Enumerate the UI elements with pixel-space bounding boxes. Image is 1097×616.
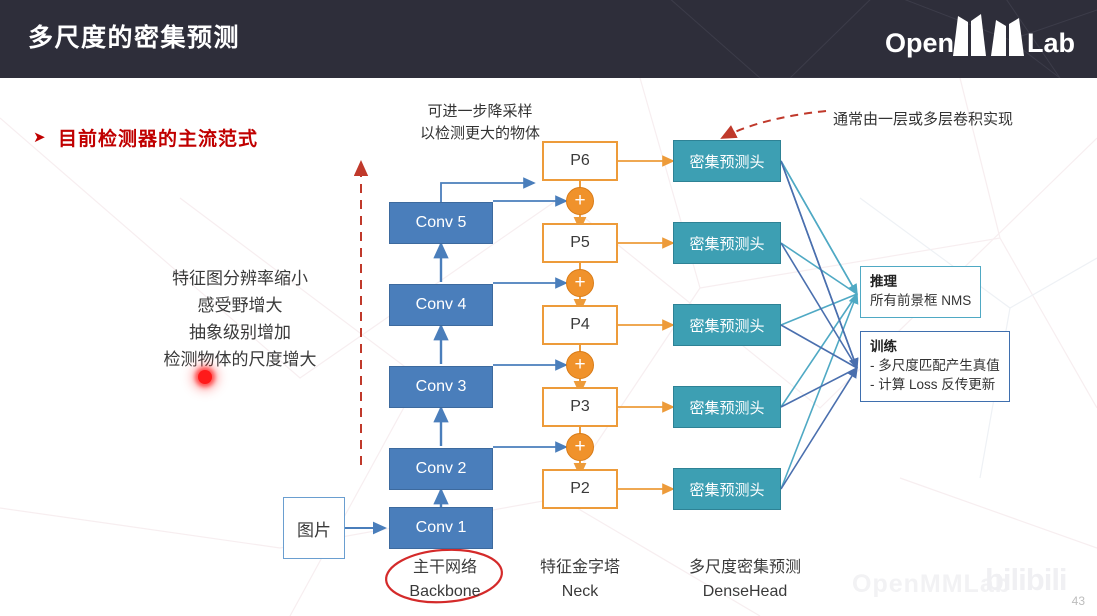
section-heading: 目前检测器的主流范式 <box>58 124 258 151</box>
slide-root: 多尺度的密集预测 Open Lab <box>0 0 1097 616</box>
bullet-arrow-icon: ➤ <box>33 128 46 146</box>
neck-p5: P5 <box>542 223 618 263</box>
training-line: - 多尺度匹配产生真值 <box>870 356 1000 375</box>
note-line: 检测物体的尺度增大 <box>120 346 360 373</box>
note-line: 以检测更大的物体 <box>405 123 555 145</box>
stage-label-en: Backbone <box>370 580 520 604</box>
stage-label-cn: 多尺度密集预测 <box>650 556 840 580</box>
input-image-box: 图片 <box>283 497 345 559</box>
bilibili-watermark: bilibili <box>985 562 1067 598</box>
training-box: 训练 - 多尺度匹配产生真值 - 计算 Loss 反传更新 <box>860 331 1010 402</box>
page-title: 多尺度的密集预测 <box>28 18 240 54</box>
stage-label-cn: 特征金字塔 <box>505 556 655 580</box>
stage-label-neck: 特征金字塔 Neck <box>505 556 655 604</box>
training-title: 训练 <box>870 337 1000 356</box>
page-number: 43 <box>1072 594 1085 608</box>
svg-text:Open: Open <box>885 28 954 58</box>
neck-p4: P4 <box>542 305 618 345</box>
slide-body: ➤ 目前检测器的主流范式 特征图分辨率缩小 感受野增大 抽象级别增加 检测物体的… <box>0 78 1097 616</box>
note-line: 感受野增大 <box>120 292 360 319</box>
neck-merge-plus-p4: + <box>566 269 594 297</box>
conv-implementation-note: 通常由一层或多层卷积实现 <box>833 108 1013 129</box>
stage-label-densehead: 多尺度密集预测 DenseHead <box>650 556 840 604</box>
neck-p3: P3 <box>542 387 618 427</box>
stage-label-en: Neck <box>505 580 655 604</box>
backbone-conv2: Conv 2 <box>389 448 493 490</box>
dense-head-p4: 密集预测头 <box>673 304 781 346</box>
dense-head-p5: 密集预测头 <box>673 222 781 264</box>
stage-label-en: DenseHead <box>650 580 840 604</box>
backbone-conv3: Conv 3 <box>389 366 493 408</box>
neck-p2: P2 <box>542 469 618 509</box>
svg-text:Lab: Lab <box>1027 28 1075 58</box>
laser-pointer-dot <box>198 370 212 384</box>
neck-merge-plus-p3: + <box>566 351 594 379</box>
inference-title: 推理 <box>870 272 971 291</box>
backbone-conv5: Conv 5 <box>389 202 493 244</box>
neck-p6: P6 <box>542 141 618 181</box>
downsample-note: 可进一步降采样 以检测更大的物体 <box>405 101 555 145</box>
dense-head-p3: 密集预测头 <box>673 386 781 428</box>
slide-header: 多尺度的密集预测 Open Lab <box>0 0 1097 78</box>
stage-label-cn: 主干网络 <box>370 556 520 580</box>
dense-head-p6: 密集预测头 <box>673 140 781 182</box>
backbone-property-note: 特征图分辨率缩小 感受野增大 抽象级别增加 检测物体的尺度增大 <box>120 265 360 373</box>
openmmlab-logo: Open Lab <box>885 12 1075 66</box>
neck-merge-plus-p5: + <box>566 187 594 215</box>
note-line: 特征图分辨率缩小 <box>120 265 360 292</box>
dense-head-p2: 密集预测头 <box>673 468 781 510</box>
backbone-conv1: Conv 1 <box>389 507 493 549</box>
training-line: - 计算 Loss 反传更新 <box>870 375 1000 394</box>
backbone-conv4: Conv 4 <box>389 284 493 326</box>
note-line: 可进一步降采样 <box>405 101 555 123</box>
note-line: 抽象级别增加 <box>120 319 360 346</box>
inference-box: 推理 所有前景框 NMS <box>860 266 981 318</box>
inference-line: 所有前景框 NMS <box>870 291 971 310</box>
stage-label-backbone: 主干网络 Backbone <box>370 556 520 604</box>
neck-merge-plus-p2: + <box>566 433 594 461</box>
